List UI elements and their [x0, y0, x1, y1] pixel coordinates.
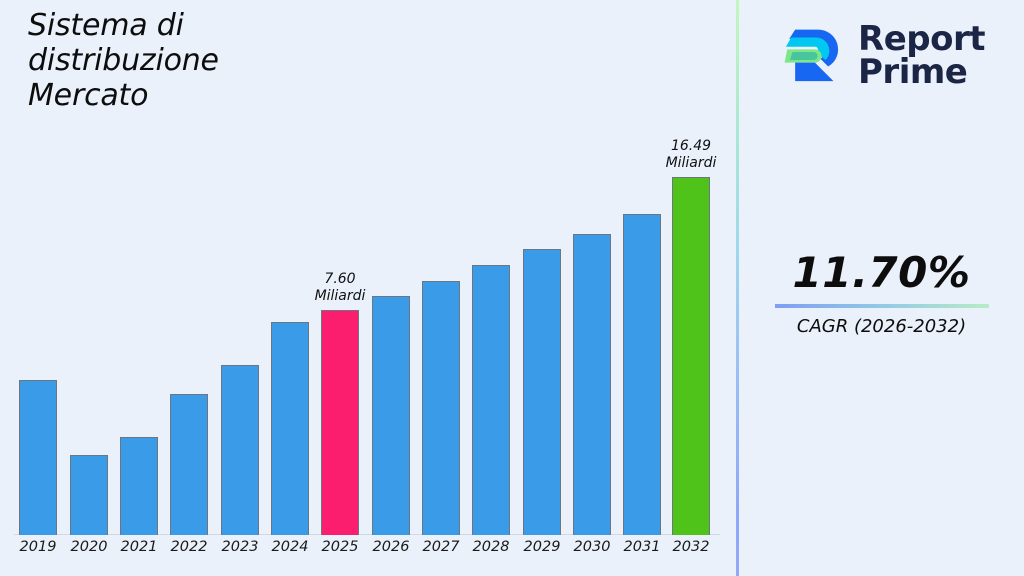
- bar-2026: [372, 296, 410, 535]
- x-tick-2019: 2019: [11, 539, 65, 555]
- infographic-root: Sistema di distribuzione Mercato 2019202…: [0, 0, 1024, 576]
- bar-2027: [422, 281, 460, 535]
- brand-panel: Report Prime 11.70% CAGR (2026-2032): [739, 0, 1024, 576]
- bar-2021: [120, 437, 158, 535]
- brand-name: Report Prime: [858, 23, 985, 90]
- x-tick-2024: 2024: [263, 539, 317, 555]
- chart-panel: Sistema di distribuzione Mercato 2019202…: [0, 0, 737, 576]
- x-tick-2031: 2031: [615, 539, 669, 555]
- x-tick-2028: 2028: [464, 539, 518, 555]
- x-tick-2023: 2023: [213, 539, 267, 555]
- bar-2024: [271, 322, 309, 535]
- bar-2022: [170, 394, 208, 535]
- x-tick-2021: 2021: [112, 539, 166, 555]
- x-tick-2026: 2026: [364, 539, 418, 555]
- bar-chart-plot: 20192020202120222023202420257.60 Miliard…: [0, 0, 737, 576]
- bar-2030: [573, 234, 611, 535]
- bar-2020: [70, 455, 108, 535]
- bar-2028: [472, 265, 510, 535]
- bar-2032: [672, 177, 710, 535]
- x-tick-2022: 2022: [162, 539, 216, 555]
- cagr-block: 11.70% CAGR (2026-2032): [739, 252, 1024, 337]
- data-label-2032: 16.49 Miliardi: [641, 138, 741, 172]
- report-prime-logo-icon: [778, 23, 844, 89]
- x-tick-2027: 2027: [414, 539, 468, 555]
- x-tick-2020: 2020: [62, 539, 116, 555]
- cagr-label: CAGR (2026-2032): [739, 316, 1024, 337]
- bar-2029: [523, 249, 561, 535]
- bar-2023: [221, 365, 259, 535]
- cagr-value: 11.70%: [739, 252, 1024, 294]
- bar-2025: [321, 310, 359, 535]
- cagr-divider-rule: [775, 304, 989, 308]
- x-tick-2029: 2029: [515, 539, 569, 555]
- bar-2019: [19, 380, 57, 535]
- brand-logo: Report Prime: [739, 10, 1024, 102]
- x-tick-2025: 2025: [313, 539, 367, 555]
- x-tick-2032: 2032: [664, 539, 718, 555]
- bar-2031: [623, 214, 661, 535]
- x-tick-2030: 2030: [565, 539, 619, 555]
- brand-name-line2: Prime: [858, 56, 985, 89]
